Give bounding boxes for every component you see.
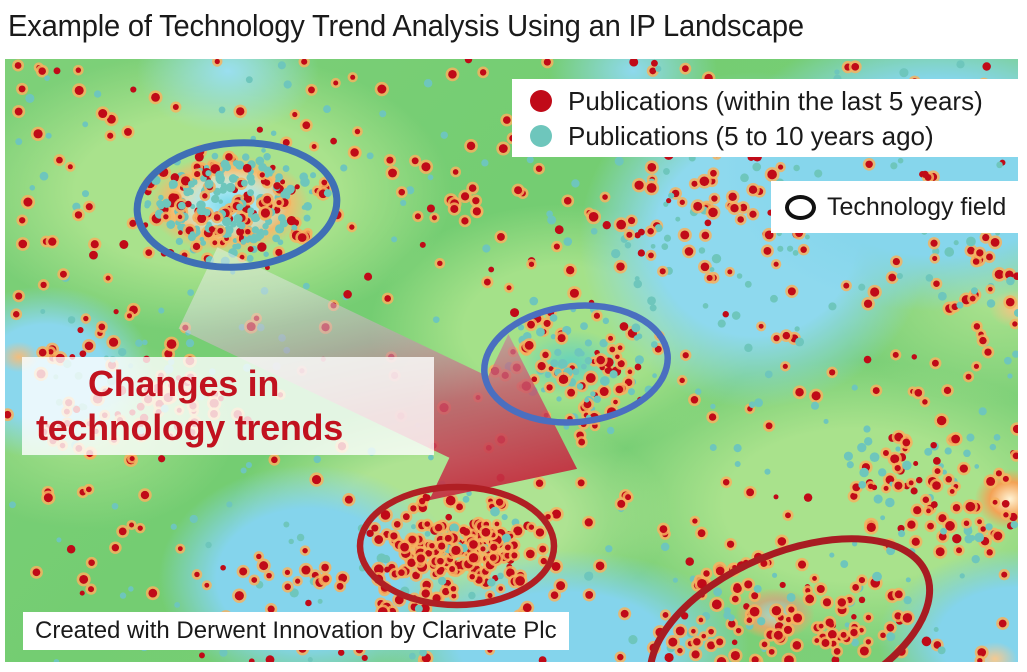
title-bar: Example of Technology Trend Analysis Usi… [0,0,1027,57]
source-caption: Created with Derwent Innovation by Clari… [23,612,569,650]
trend-callout: Changes in technology trends [22,357,434,455]
ip-landscape-figure: Changes in technology trends Publication… [5,59,1018,662]
legend-panel: Publications (within the last 5 years) P… [512,79,1018,157]
legend-label-recent: Publications (within the last 5 years) [568,86,983,116]
black-ellipse-outline-icon [785,195,816,220]
legend-item-recent: Publications (within the last 5 years) [530,83,1018,118]
teal-filled-circle-icon [530,125,552,147]
technology-field-bottom-left[interactable] [360,487,554,605]
technology-field-bottom-right[interactable] [623,501,956,662]
infographic-page: Example of Technology Trend Analysis Usi… [0,0,1027,672]
red-filled-circle-icon [530,90,552,112]
callout-line-2: technology trends [36,406,434,450]
callout-line-1: Changes in [36,362,434,406]
legend-label-older: Publications (5 to 10 years ago) [568,121,934,151]
caption-text: Created with Derwent Innovation by Clari… [35,617,557,645]
technology-field-middle[interactable] [478,297,673,432]
technology-field-top-left[interactable] [133,136,341,274]
page-title: Example of Technology Trend Analysis Usi… [8,3,804,50]
legend-item-older: Publications (5 to 10 years ago) [530,118,1018,153]
legend-technology-field: Technology field [771,181,1018,233]
legend-label-technology-field: Technology field [827,193,1006,222]
